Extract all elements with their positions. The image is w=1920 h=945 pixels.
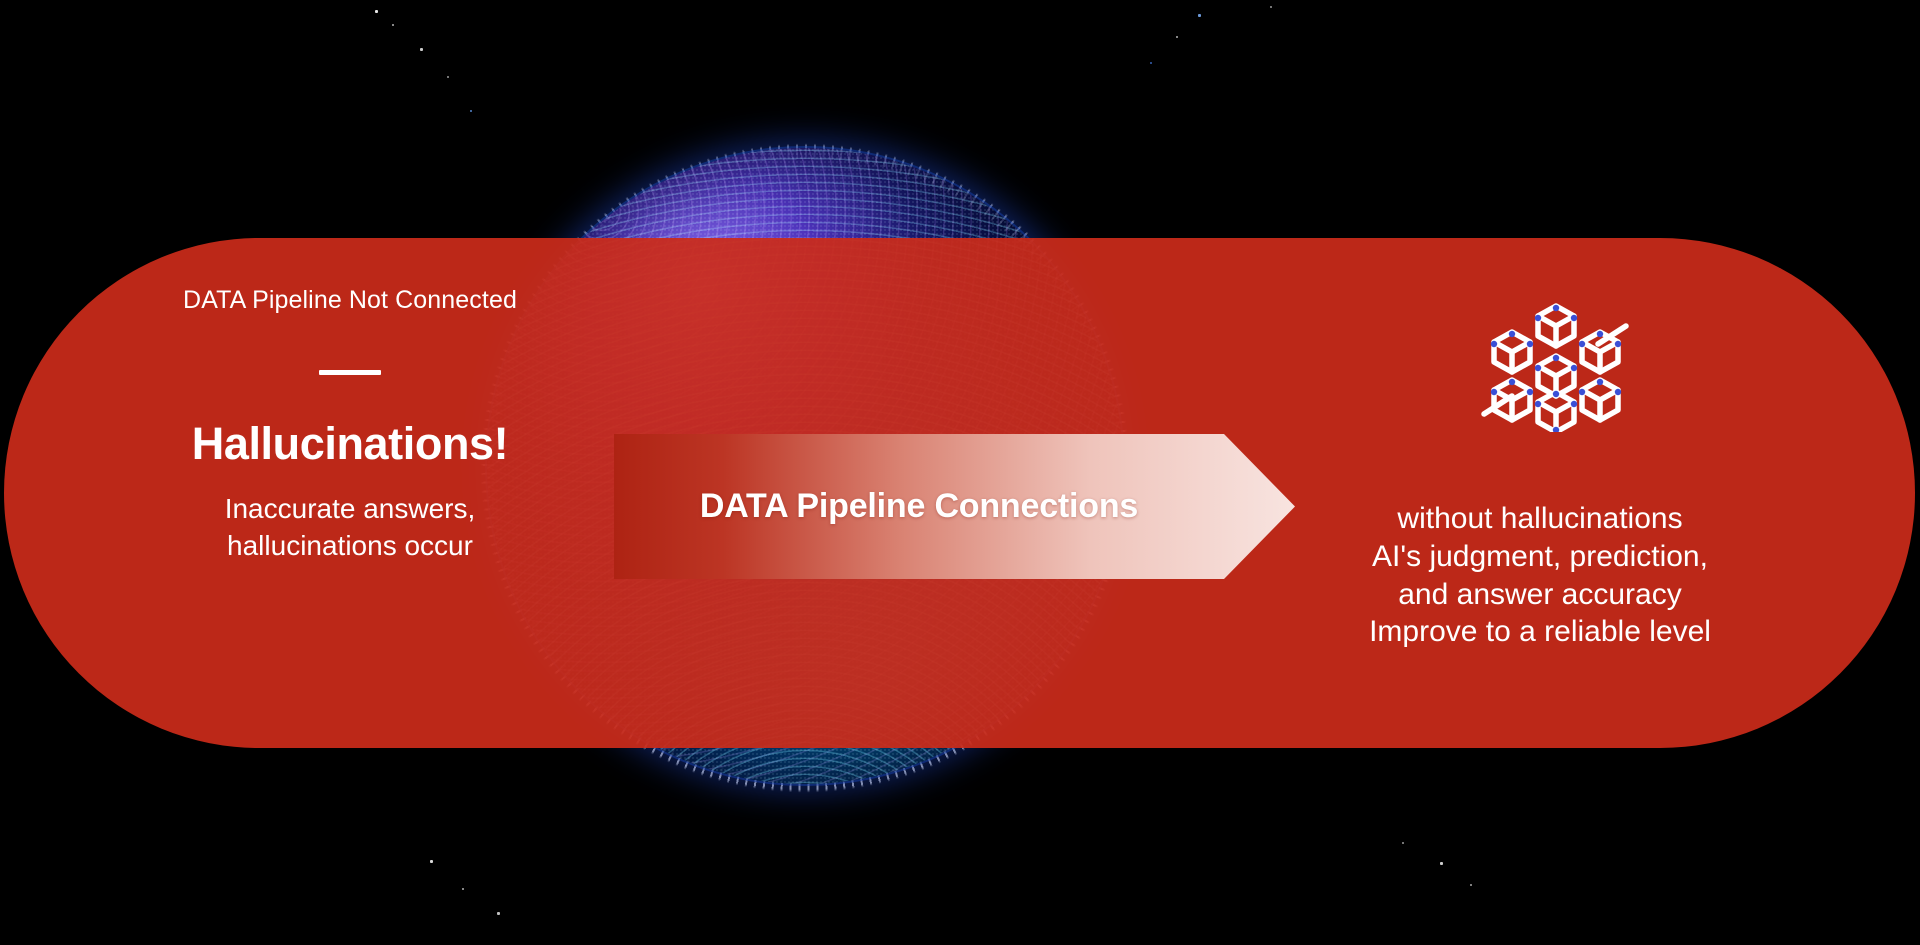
speck — [1402, 842, 1404, 844]
outcome-line-3: and answer accuracy — [1300, 576, 1780, 614]
blockchain-network-icon — [1470, 300, 1638, 432]
problem-block: DATA Pipeline Not Connected Hallucinatio… — [140, 285, 560, 565]
infographic-canvas: DATA Pipeline Not Connected Hallucinatio… — [0, 0, 1920, 945]
arrow-label: DATA Pipeline Connections — [614, 434, 1224, 579]
outcome-line-2: AI's judgment, prediction, — [1300, 538, 1780, 576]
speck — [497, 912, 500, 915]
speck — [462, 888, 464, 890]
speck — [1150, 62, 1152, 64]
speck — [392, 24, 394, 26]
speck — [1440, 862, 1443, 865]
outcome-line-4: Improve to a reliable level — [1300, 613, 1780, 651]
speck — [1176, 36, 1178, 38]
speck — [447, 76, 449, 78]
speck — [1470, 884, 1472, 886]
speck — [430, 860, 433, 863]
outcome-line-1: without hallucinations — [1300, 500, 1780, 538]
speck — [1270, 6, 1272, 8]
divider-rule — [319, 370, 381, 375]
problem-subline-1: Inaccurate answers, — [140, 491, 560, 528]
problem-subline-2: hallucinations occur — [140, 528, 560, 565]
outcome-block: without hallucinations AI's judgment, pr… — [1300, 500, 1780, 651]
blockchain-network-glyph — [1470, 300, 1638, 432]
speck — [420, 48, 423, 51]
problem-eyebrow: DATA Pipeline Not Connected — [140, 285, 560, 316]
pipeline-arrow: DATA Pipeline Connections — [614, 434, 1295, 579]
problem-headline: Hallucinations! — [140, 419, 560, 469]
speck — [1198, 14, 1201, 17]
speck — [470, 110, 472, 112]
speck — [375, 10, 378, 13]
